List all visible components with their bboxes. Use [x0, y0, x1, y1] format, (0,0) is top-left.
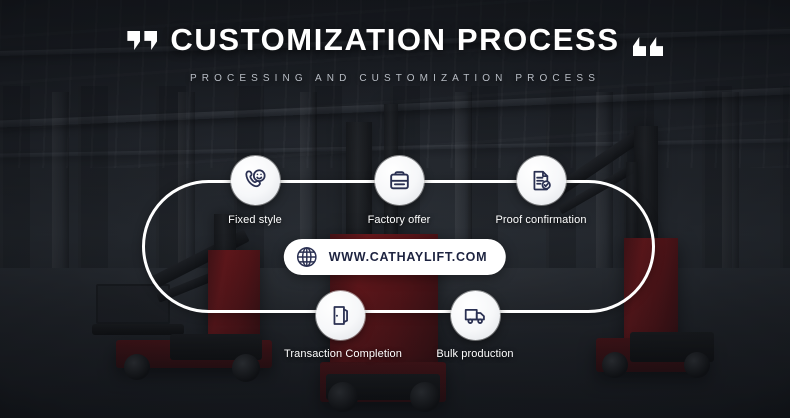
page-title: CUSTOMIZATION PROCESS	[170, 24, 619, 55]
banner-header: CUSTOMIZATION PROCESS PROCESSING AND CUS…	[0, 24, 790, 84]
step-label: Fixed style	[199, 214, 311, 226]
website-url-badge[interactable]: WWW.CATHAYLIFT.COM	[284, 239, 506, 275]
step-icon-bubble	[375, 156, 424, 205]
page-subtitle: PROCESSING AND CUSTOMIZATION PROCESS	[0, 73, 790, 84]
process-step-proof-confirmation[interactable]: Proof confirmation	[485, 156, 597, 226]
step-icon-bubble	[231, 156, 280, 205]
delivery-truck-icon	[463, 303, 488, 328]
process-step-bulk-production[interactable]: Bulk production	[419, 291, 531, 360]
quote-open-icon	[127, 31, 161, 53]
process-step-transaction-completion[interactable]: Transaction Completion	[284, 291, 396, 360]
process-step-fixed-style[interactable]: Fixed style	[199, 156, 311, 226]
step-label: Bulk production	[419, 348, 531, 360]
document-check-icon	[529, 168, 554, 193]
phone-support-icon	[243, 168, 268, 193]
step-icon-bubble	[517, 156, 566, 205]
quote-close-icon	[629, 34, 663, 56]
open-door-icon	[328, 303, 353, 328]
title-row: CUSTOMIZATION PROCESS	[0, 24, 790, 56]
step-label: Proof confirmation	[485, 214, 597, 226]
step-label: Transaction Completion	[284, 348, 396, 360]
step-icon-bubble	[316, 291, 365, 340]
website-url-text: WWW.CATHAYLIFT.COM	[329, 250, 487, 264]
briefcase-icon	[387, 168, 412, 193]
globe-icon	[295, 245, 319, 269]
step-label: Factory offer	[343, 214, 455, 226]
step-icon-bubble	[451, 291, 500, 340]
process-step-factory-offer[interactable]: Factory offer	[343, 156, 455, 226]
customization-process-banner: CUSTOMIZATION PROCESS PROCESSING AND CUS…	[0, 0, 790, 418]
